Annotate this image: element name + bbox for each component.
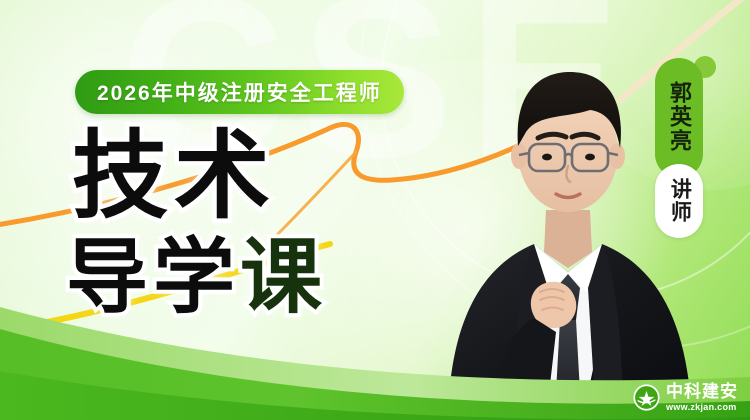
course-category-pill: 2026年中级注册安全工程师 — [75, 70, 404, 114]
logo-text-block: 中科建安 www.zkjan.com — [666, 383, 738, 412]
course-banner: CSE 2026年中级注册安全工程师 技术 导学课 — [0, 0, 750, 420]
logo-mark-icon — [633, 384, 660, 411]
instructor-role: 讲师 — [655, 164, 703, 238]
course-title-line-2-main: 导学 — [66, 232, 240, 323]
course-title: 技术 导学课 — [72, 128, 327, 320]
logo-website-url: www.zkjan.com — [666, 403, 738, 412]
brand-logo[interactable]: 中科建安 www.zkjan.com — [633, 383, 738, 412]
course-title-line-2: 导学课 — [66, 236, 327, 320]
instructor-name: 郭英亮 — [655, 58, 703, 178]
course-category-label: 2026年中级注册安全工程师 — [97, 77, 382, 107]
instructor-badge: 郭英亮 讲师 — [655, 58, 703, 238]
course-title-line-2-accent: 课 — [240, 232, 327, 323]
logo-company-name: 中科建安 — [666, 383, 738, 400]
course-title-line-1: 技术 — [72, 128, 327, 226]
